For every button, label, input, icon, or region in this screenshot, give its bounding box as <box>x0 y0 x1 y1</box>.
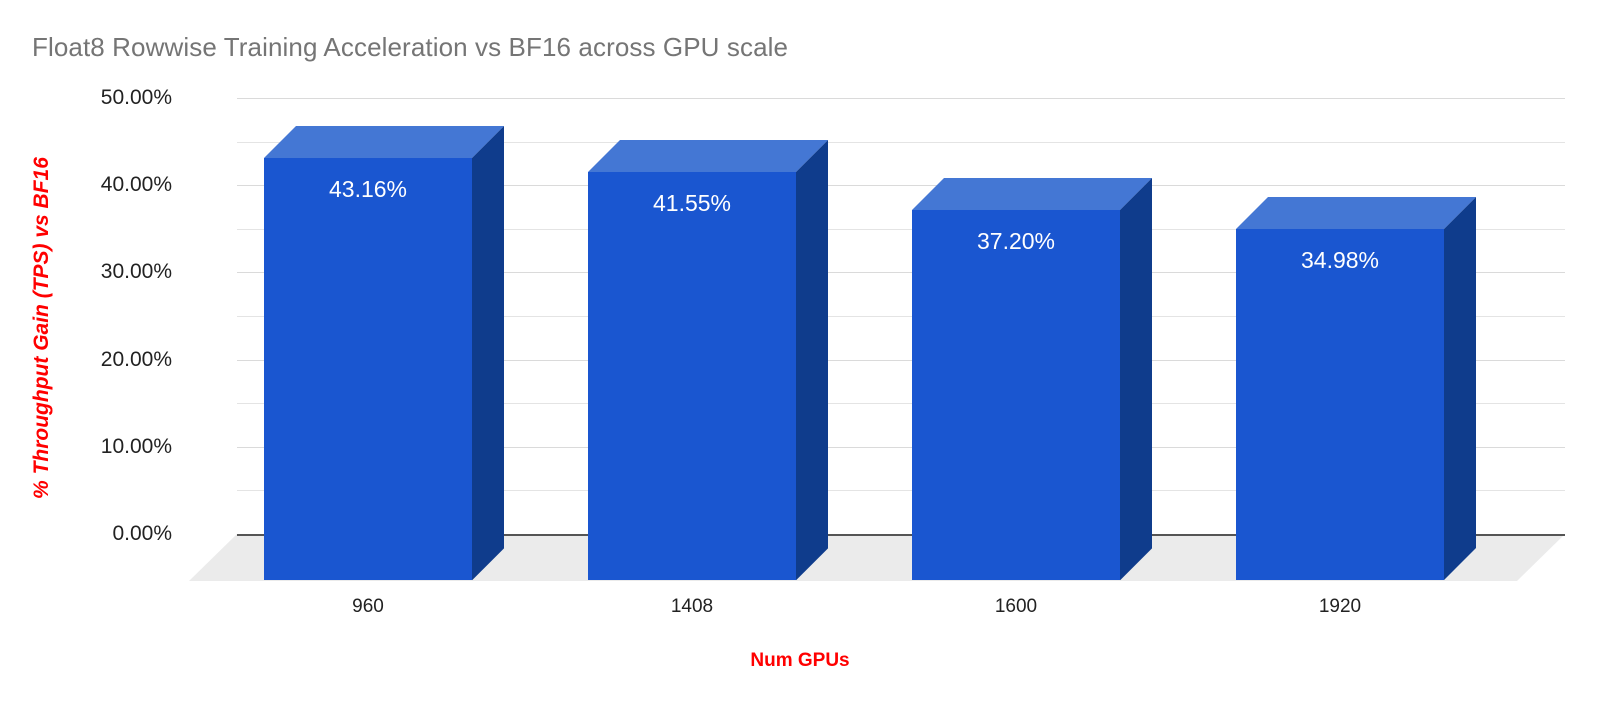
y-axis-tick-label: 30.00% <box>12 260 172 284</box>
bar-top-face <box>912 178 1152 210</box>
bar-top-face <box>264 126 504 158</box>
bar-data-label: 34.98% <box>1236 247 1444 274</box>
x-axis-tick-label: 1920 <box>1220 596 1460 618</box>
bar-top-face <box>588 140 828 172</box>
y-axis-tick-label: 40.00% <box>12 173 172 197</box>
x-axis-tick-label: 1408 <box>572 596 812 618</box>
chart-container: Float8 Rowwise Training Acceleration vs … <box>0 0 1600 722</box>
bar-front-face <box>912 210 1120 580</box>
bar-front-face <box>1236 229 1444 580</box>
bar-data-label: 37.20% <box>912 228 1120 255</box>
y-axis-tick-label: 0.00% <box>12 522 172 546</box>
bar-data-label: 43.16% <box>264 176 472 203</box>
bar-data-label: 41.55% <box>588 190 796 217</box>
bar-front-face <box>264 158 472 580</box>
bar-top-face <box>1236 197 1476 229</box>
x-axis-title: Num GPUs <box>0 650 1600 672</box>
y-axis-tick-label: 20.00% <box>12 348 172 372</box>
bar-front-face <box>588 172 796 580</box>
gridline-major <box>237 98 1565 99</box>
bar-side-face <box>1120 178 1152 580</box>
bar-side-face <box>1444 197 1476 580</box>
x-axis-tick-label: 960 <box>248 596 488 618</box>
y-axis-tick-label: 50.00% <box>12 86 172 110</box>
x-axis-tick-label: 1600 <box>896 596 1136 618</box>
bar-side-face <box>796 140 828 580</box>
y-axis-tick-label: 10.00% <box>12 435 172 459</box>
bar-side-face <box>472 126 504 580</box>
chart-title: Float8 Rowwise Training Acceleration vs … <box>32 32 788 63</box>
